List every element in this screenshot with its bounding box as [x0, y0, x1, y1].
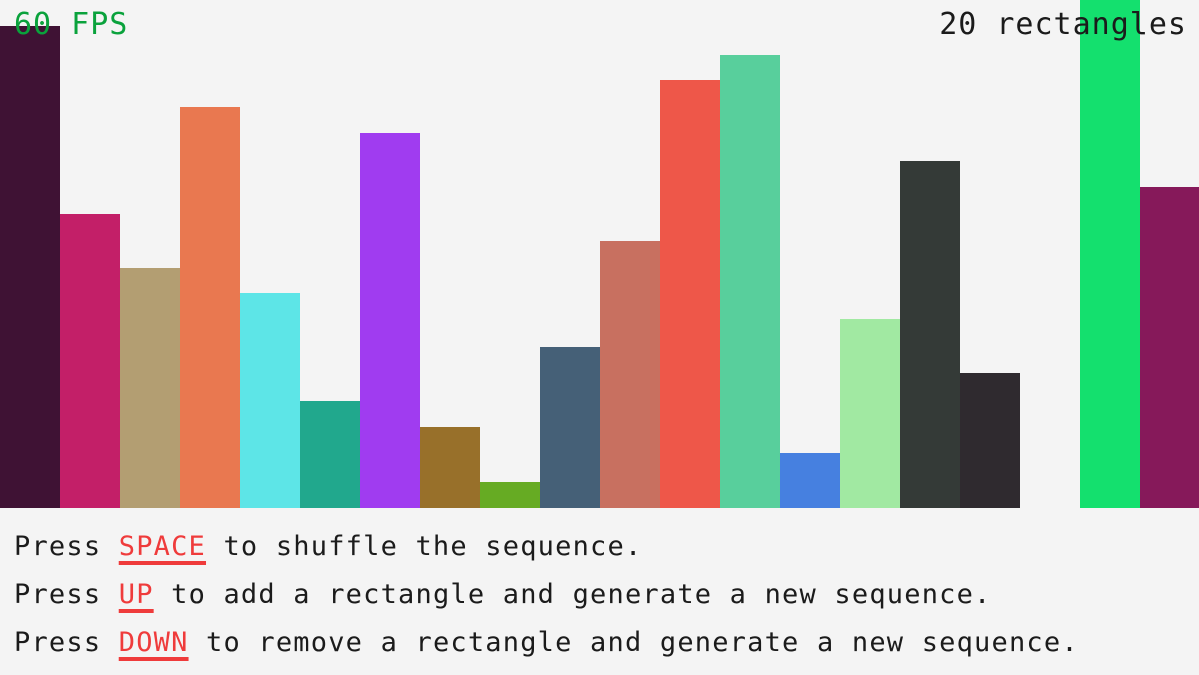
instructions-panel: Press SPACE to shuffle the sequence.Pres…: [0, 509, 1199, 675]
bar-rectangle: [360, 133, 420, 508]
bar-rectangle: [420, 427, 480, 508]
instruction-line: Press DOWN to remove a rectangle and gen…: [14, 619, 1199, 667]
key-hint-space[interactable]: SPACE: [119, 531, 206, 562]
instruction-line: Press UP to add a rectangle and generate…: [14, 571, 1199, 619]
bar-rectangle: [720, 55, 780, 508]
instruction-prefix: Press: [14, 579, 119, 610]
bar-rectangle: [60, 214, 120, 508]
instruction-suffix: to shuffle the sequence.: [206, 531, 642, 562]
bar-rectangle: [1140, 187, 1199, 508]
instruction-prefix: Press: [14, 627, 119, 658]
instruction-line: Press SPACE to shuffle the sequence.: [14, 523, 1199, 571]
key-hint-up[interactable]: UP: [119, 579, 154, 610]
instruction-suffix: to remove a rectangle and generate a new…: [189, 627, 1079, 658]
rectangle-chart: [0, 0, 1199, 509]
bar-rectangle: [840, 319, 900, 508]
bar-rectangle: [600, 241, 660, 508]
bar-rectangle: [240, 293, 300, 508]
rectangle-count-label: 20 rectangles: [939, 8, 1187, 42]
instruction-prefix: Press: [14, 531, 119, 562]
key-hint-down[interactable]: DOWN: [119, 627, 189, 658]
instruction-suffix: to add a rectangle and generate a new se…: [154, 579, 992, 610]
bar-rectangle: [660, 80, 720, 508]
bar-rectangle: [780, 453, 840, 508]
app-canvas: 60 FPS 20 rectangles Press SPACE to shuf…: [0, 0, 1199, 675]
bar-rectangle: [960, 373, 1020, 508]
bar-rectangle: [300, 401, 360, 508]
bar-rectangle: [1080, 0, 1140, 508]
bar-rectangle: [540, 347, 600, 508]
fps-counter: 60 FPS: [14, 8, 128, 42]
bar-rectangle: [120, 268, 180, 508]
bar-rectangle: [180, 107, 240, 508]
bar-rectangle: [480, 482, 540, 508]
bar-rectangle: [0, 26, 60, 508]
bar-rectangle: [900, 161, 960, 508]
